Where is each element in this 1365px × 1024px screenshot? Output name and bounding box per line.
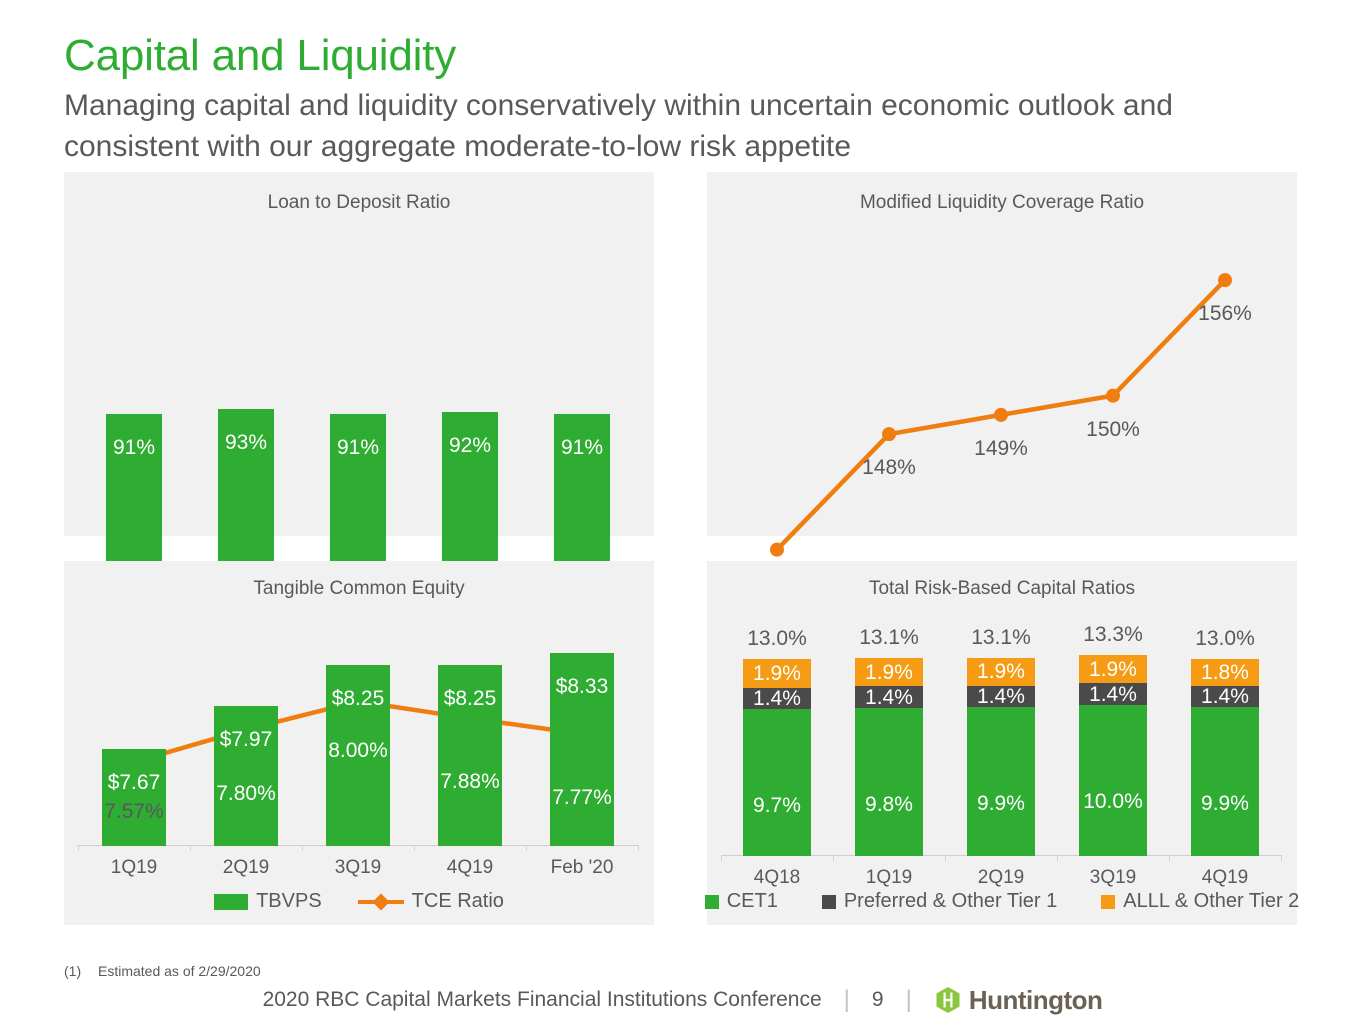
x-tick-label: 4Q18 (721, 867, 833, 889)
x-axis-labels-total-risk-based-capital-ratios: 4Q181Q192Q193Q194Q19 (721, 867, 1281, 889)
tce-ratio-value-label: 8.00% (328, 739, 388, 763)
tce-ratio-value-label: 7.80% (216, 782, 276, 806)
legend-label-tbvps: TBVPS (256, 890, 322, 913)
chart-panel-modified-liquidity-coverage-ratio: Modified Liquidity Coverage Ratio 142%14… (707, 172, 1297, 536)
data-point-marker[interactable] (882, 427, 896, 441)
stack-segment-alll-other-tier-2: 1.8% (1191, 659, 1258, 686)
segment-value-label: 10.0% (1083, 791, 1143, 812)
slide: Capital and Liquidity Managing capital a… (0, 0, 1365, 1024)
footer-separator-2: | (906, 986, 912, 1014)
footer-conference: 2020 RBC Capital Markets Financial Insti… (263, 988, 844, 1012)
bar-tbvps[interactable]: $7.97 (214, 706, 278, 846)
legend-swatch-dark-icon (822, 895, 836, 909)
stack-segment-preferred-other-tier-1: 1.4% (743, 688, 810, 709)
footnote-text: Estimated as of 2/29/2020 (98, 963, 261, 979)
stacked-bar-4q19[interactable]: 1.8%1.4%9.9% (1191, 659, 1258, 856)
data-point-label: 148% (862, 456, 916, 480)
segment-value-label: 1.4% (753, 688, 801, 709)
legend-tangible-common-equity: TBVPS TCE Ratio (64, 890, 654, 913)
chart-title-modified-liquidity-coverage-ratio: Modified Liquidity Coverage Ratio (707, 192, 1297, 214)
data-point-label: 156% (1198, 302, 1252, 326)
bar-value-label: 91% (330, 436, 386, 460)
brand-name: Huntington (969, 985, 1103, 1016)
stack-segment-alll-other-tier-2: 1.9% (855, 658, 922, 687)
chart-title-loan-to-deposit-ratio: Loan to Deposit Ratio (64, 192, 654, 214)
bar-value-label: $8.25 (326, 687, 390, 711)
bar-tbvps[interactable]: $8.33 (550, 653, 614, 846)
x-axis-labels-tangible-common-equity: 1Q192Q193Q194Q19Feb '20 (78, 857, 638, 879)
segment-value-label: 1.4% (977, 686, 1025, 707)
chart-panel-total-risk-based-capital-ratios: Total Risk-Based Capital Ratios 1.9%1.4%… (707, 561, 1297, 925)
segment-value-label: 1.8% (1201, 662, 1249, 683)
segment-value-label: 9.9% (977, 793, 1025, 814)
x-tick-label: 4Q19 (1169, 867, 1281, 889)
chart-panel-tangible-common-equity: Tangible Common Equity $7.67$7.97$8.25$8… (64, 561, 654, 925)
x-axis-tick (190, 845, 191, 851)
bar-rect: $8.25 (438, 665, 502, 846)
page-title: Capital and Liquidity (64, 28, 456, 84)
legend-label-alll-other-tier-2: ALLL & Other Tier 2 (1123, 890, 1299, 913)
bar-rect: $7.97 (214, 706, 278, 846)
stack-segment-cet1: 9.7% (743, 709, 810, 856)
bar-tbvps[interactable]: $7.67 (102, 749, 166, 846)
x-tick-label: 1Q19 (78, 857, 190, 879)
stack-segment-preferred-other-tier-1: 1.4% (1079, 683, 1146, 704)
segment-value-label: 1.9% (753, 663, 801, 684)
bar-value-label: $7.97 (214, 728, 278, 752)
x-axis-tick (721, 855, 722, 861)
segment-value-label: 1.4% (865, 687, 913, 708)
segment-value-label: 9.8% (865, 794, 913, 815)
footnote: (1)Estimated as of 2/29/2020 (64, 963, 261, 979)
footer-page-number: 9 (850, 988, 906, 1012)
segment-value-label: 1.4% (1201, 686, 1249, 707)
bar-value-label: 91% (106, 436, 162, 460)
footnote-marker: (1) (64, 963, 98, 979)
data-point-label: 150% (1086, 418, 1140, 442)
stack-segment-alll-other-tier-2: 1.9% (743, 659, 810, 688)
x-tick-label: 2Q19 (945, 867, 1057, 889)
huntington-hexagon-icon (934, 986, 962, 1014)
x-tick-label: 3Q19 (1057, 867, 1169, 889)
x-axis-tick (78, 845, 79, 851)
legend-label-preferred-other-tier-1: Preferred & Other Tier 1 (844, 890, 1057, 913)
x-tick-label: 4Q19 (414, 857, 526, 879)
stack-segment-alll-other-tier-2: 1.9% (1079, 655, 1146, 684)
chart-title-total-risk-based-capital-ratios: Total Risk-Based Capital Ratios (707, 578, 1297, 600)
segment-value-label: 1.4% (1089, 684, 1137, 705)
x-axis-tick (1057, 855, 1058, 861)
plot-area-total-risk-based-capital-ratios: 1.9%1.4%9.7%13.0%1.9%1.4%9.8%13.1%1.9%1.… (721, 641, 1281, 856)
x-tick-label: 1Q19 (833, 867, 945, 889)
x-axis-tick (833, 855, 834, 861)
legend-swatch-green-icon (705, 895, 719, 909)
segment-value-label: 1.9% (1089, 659, 1137, 680)
chart-title-tangible-common-equity: Tangible Common Equity (64, 578, 654, 600)
x-axis-tick (1169, 855, 1170, 861)
chart-panel-loan-to-deposit-ratio: Loan to Deposit Ratio 91%93%91%92%91% 1Q… (64, 172, 654, 536)
footer: 2020 RBC Capital Markets Financial Insti… (0, 980, 1365, 1020)
plot-area-tangible-common-equity: $7.67$7.97$8.25$8.25$8.337.57%7.80%8.00%… (78, 611, 638, 846)
legend-item-preferred-other-tier-1[interactable]: Preferred & Other Tier 1 (822, 890, 1057, 913)
data-point-marker[interactable] (1218, 273, 1232, 287)
segment-value-label: 1.9% (977, 661, 1025, 682)
legend-swatch-green-icon (214, 894, 248, 910)
stack-total-label: 13.0% (747, 627, 807, 651)
stack-total-label: 13.0% (1195, 627, 1255, 651)
stack-segment-cet1: 9.9% (967, 707, 1034, 856)
x-axis-tick (1281, 855, 1282, 861)
stack-total-label: 13.1% (859, 626, 919, 650)
bar-value-label: 92% (442, 434, 498, 458)
data-point-marker[interactable] (770, 543, 784, 557)
tce-ratio-value-label: 7.77% (552, 786, 612, 810)
stacked-bar-1q19[interactable]: 1.9%1.4%9.8% (855, 658, 922, 856)
x-axis-tick (638, 845, 639, 851)
data-point-label: 149% (974, 437, 1028, 461)
x-tick-label: 3Q19 (302, 857, 414, 879)
legend-item-tbvps[interactable]: TBVPS (214, 890, 322, 913)
legend-label-cet1: CET1 (727, 890, 778, 913)
brand-logo: Huntington (934, 985, 1103, 1016)
bar-rect: $7.67 (102, 749, 166, 846)
tce-ratio-value-label: 7.88% (440, 770, 500, 794)
legend-total-risk-based-capital-ratios: CET1 Preferred & Other Tier 1 ALLL & Oth… (707, 890, 1297, 913)
legend-item-cet1[interactable]: CET1 (705, 890, 778, 913)
stacked-bar-3q19[interactable]: 1.9%1.4%10.0% (1079, 655, 1146, 856)
x-tick-label: Feb '20 (526, 857, 638, 879)
x-axis-tick (302, 845, 303, 851)
bar-value-label: $7.67 (102, 771, 166, 795)
stack-segment-alll-other-tier-2: 1.9% (967, 658, 1034, 687)
segment-value-label: 9.7% (753, 795, 801, 816)
segment-value-label: 1.9% (865, 662, 913, 683)
x-axis-tick (414, 845, 415, 851)
legend-swatch-orange-icon (1101, 895, 1115, 909)
x-tick-label: 2Q19 (190, 857, 302, 879)
x-axis-tick (945, 855, 946, 861)
bar-value-label: $8.25 (438, 687, 502, 711)
legend-swatch-line-marker-icon (358, 894, 404, 910)
tce-ratio-value-label: 7.57% (104, 800, 164, 824)
x-axis-tick (526, 845, 527, 851)
bar-tbvps[interactable]: $8.25 (438, 665, 502, 846)
bar-value-label: 91% (554, 436, 610, 460)
stack-total-label: 13.1% (971, 626, 1031, 650)
stack-segment-preferred-other-tier-1: 1.4% (855, 686, 922, 707)
segment-value-label: 9.9% (1201, 793, 1249, 814)
stack-total-label: 13.3% (1083, 623, 1143, 647)
stack-segment-cet1: 9.8% (855, 708, 922, 856)
stack-segment-preferred-other-tier-1: 1.4% (967, 686, 1034, 707)
legend-label-tce-ratio: TCE Ratio (412, 890, 504, 913)
bar-value-label: $8.33 (550, 675, 614, 699)
page-subtitle: Managing capital and liquidity conservat… (64, 85, 1244, 167)
data-point-marker[interactable] (1106, 389, 1120, 403)
data-point-marker[interactable] (994, 408, 1008, 422)
stack-segment-preferred-other-tier-1: 1.4% (1191, 686, 1258, 707)
stacked-bar-4q18[interactable]: 1.9%1.4%9.7% (743, 659, 810, 856)
legend-item-alll-other-tier-2[interactable]: ALLL & Other Tier 2 (1101, 890, 1299, 913)
legend-item-tce-ratio[interactable]: TCE Ratio (358, 890, 504, 913)
stacked-bar-2q19[interactable]: 1.9%1.4%9.9% (967, 658, 1034, 856)
bar-rect: $8.33 (550, 653, 614, 846)
bar-value-label: 93% (218, 431, 274, 455)
stack-segment-cet1: 9.9% (1191, 707, 1258, 856)
stack-segment-cet1: 10.0% (1079, 705, 1146, 856)
